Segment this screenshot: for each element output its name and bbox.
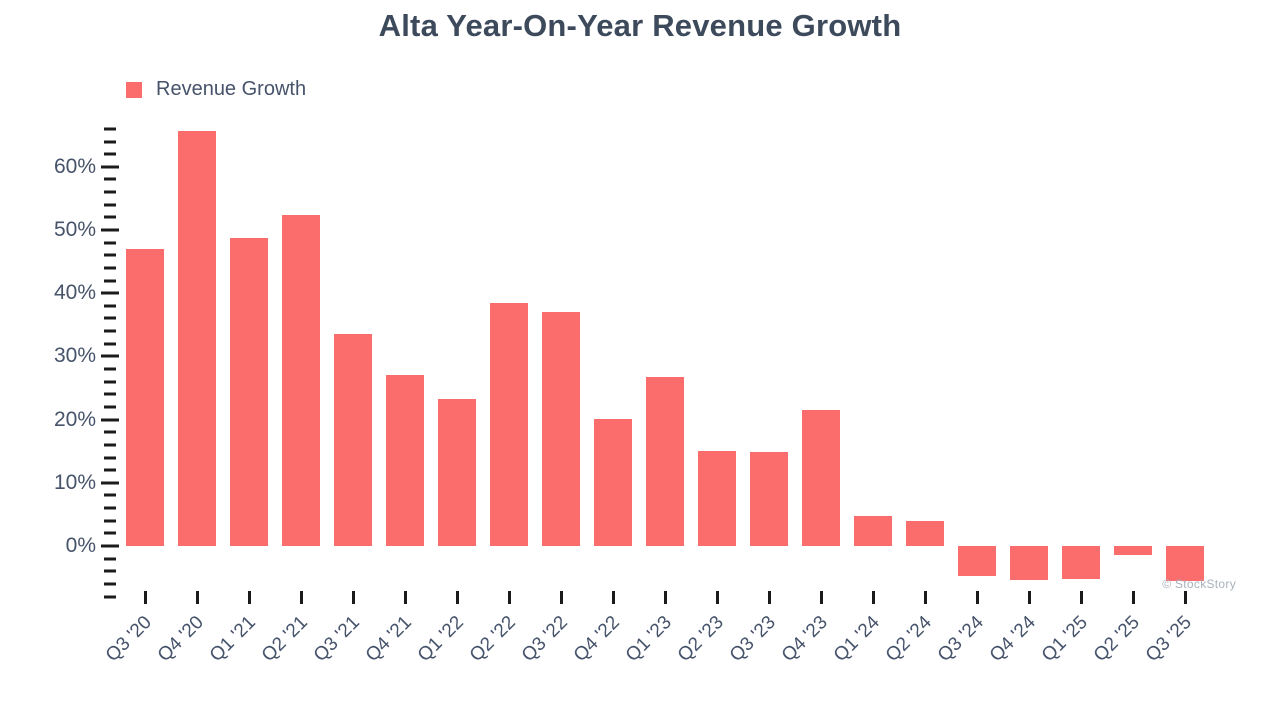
x-axis: Q3 '20Q4 '20Q1 '21Q2 '21Q3 '21Q4 '21Q1 '… <box>0 0 1280 720</box>
x-axis-tick-label: Q1 '21 <box>206 612 261 667</box>
x-axis-tick-label: Q2 '21 <box>258 612 313 667</box>
x-axis-tick-label: Q1 '23 <box>622 612 677 667</box>
x-axis-tick-label: Q4 '20 <box>154 612 209 667</box>
chart-plot-area: 0%10%20%30%40%50%60% Q3 '20Q4 '20Q1 '21Q… <box>0 0 1280 720</box>
x-axis-tick-label: Q4 '21 <box>362 612 417 667</box>
x-axis-tick-label: Q2 '22 <box>466 612 521 667</box>
x-axis-tick-label: Q2 '25 <box>1090 612 1145 667</box>
x-axis-tick-label: Q3 '22 <box>518 612 573 667</box>
x-axis-tick-label: Q4 '23 <box>778 612 833 667</box>
x-axis-tick-label: Q4 '24 <box>986 612 1041 667</box>
x-axis-tick-label: Q3 '23 <box>726 612 781 667</box>
x-axis-tick-label: Q2 '24 <box>882 612 937 667</box>
x-axis-tick-label: Q3 '25 <box>1142 612 1197 667</box>
x-axis-tick-label: Q1 '25 <box>1038 612 1093 667</box>
x-axis-tick-label: Q2 '23 <box>674 612 729 667</box>
x-axis-tick-label: Q3 '21 <box>310 612 365 667</box>
x-axis-tick-label: Q3 '20 <box>102 612 157 667</box>
x-axis-tick-label: Q1 '22 <box>414 612 469 667</box>
watermark: © StockStory <box>1162 577 1236 591</box>
x-axis-tick-label: Q3 '24 <box>934 612 989 667</box>
x-axis-tick-label: Q1 '24 <box>830 612 885 667</box>
x-axis-tick-label: Q4 '22 <box>570 612 625 667</box>
